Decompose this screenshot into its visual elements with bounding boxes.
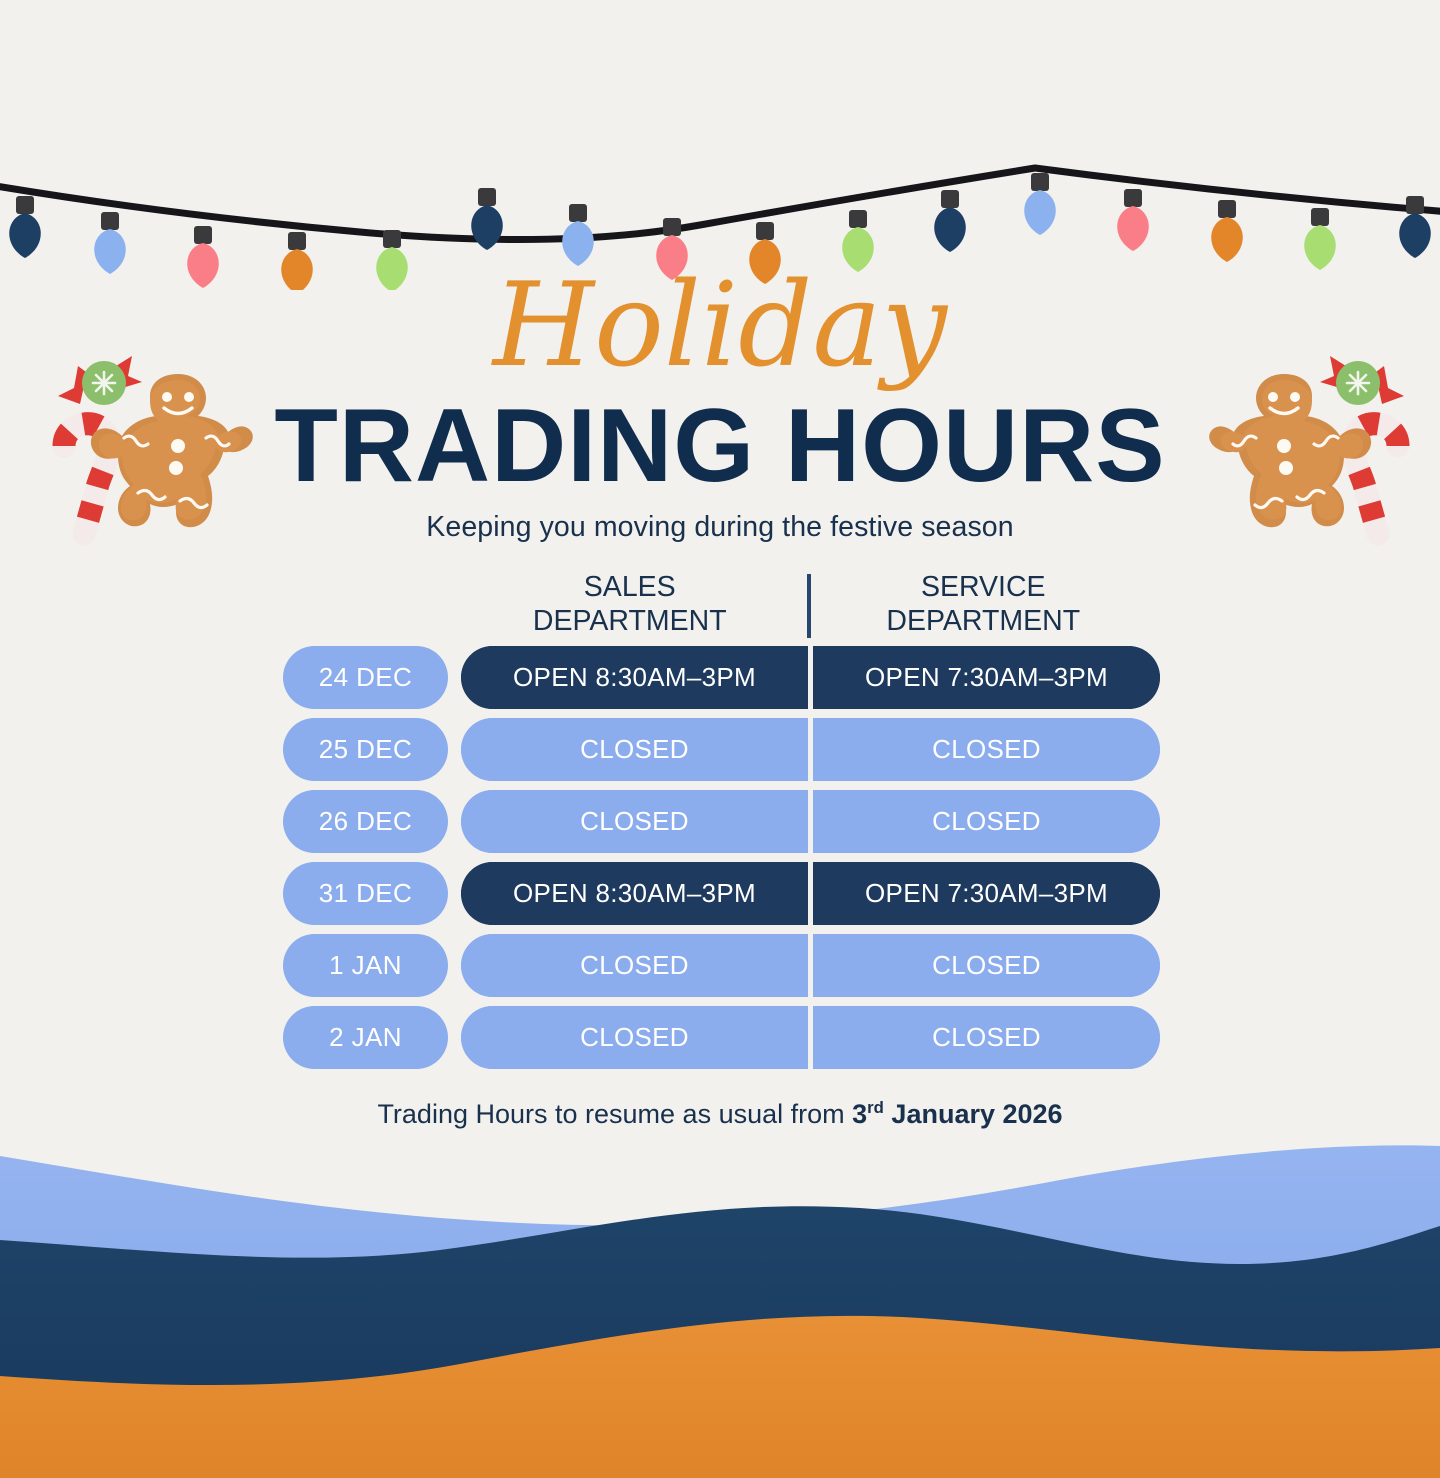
column-header-service-line2: DEPARTMENT [807,605,1161,639]
wave-decoration [0,1118,1440,1478]
cell-service: CLOSED [808,1006,1160,1069]
row-cells: CLOSED CLOSED [461,1006,1160,1069]
row-date-badge: 31 DEC [283,862,448,925]
cell-service: CLOSED [808,934,1160,997]
column-header-sales: SALES DEPARTMENT [453,568,807,638]
string-lights-icon [0,0,1440,290]
cell-service: CLOSED [808,790,1160,853]
row-cells: OPEN 8:30AM–3PM OPEN 7:30AM–3PM [461,646,1160,709]
cell-sales: CLOSED [461,790,808,853]
row-date-badge: 24 DEC [283,646,448,709]
row-cells: CLOSED CLOSED [461,790,1160,853]
column-header-sales-line1: SALES [453,571,807,605]
table-row: 1 JAN CLOSED CLOSED [283,934,1160,997]
table-row: 2 JAN CLOSED CLOSED [283,1006,1160,1069]
column-header-sales-line2: DEPARTMENT [453,605,807,639]
table-row: 24 DEC OPEN 8:30AM–3PM OPEN 7:30AM–3PM [283,646,1160,709]
row-date-badge: 1 JAN [283,934,448,997]
column-header-service-line1: SERVICE [807,571,1161,605]
cell-sales: OPEN 8:30AM–3PM [461,862,808,925]
cell-sales: CLOSED [461,1006,808,1069]
page-title: TRADING HOURS [0,394,1440,498]
row-date-badge: 26 DEC [283,790,448,853]
resume-note-ordinal: rd [867,1098,884,1117]
subtitle: Keeping you moving during the festive se… [0,511,1440,544]
trading-hours-table: SALES DEPARTMENT SERVICE DEPARTMENT 24 D… [283,568,1160,1078]
cell-service: OPEN 7:30AM–3PM [808,862,1160,925]
table-row: 26 DEC CLOSED CLOSED [283,790,1160,853]
cell-sales: CLOSED [461,718,808,781]
cell-service: CLOSED [808,718,1160,781]
row-cells: CLOSED CLOSED [461,934,1160,997]
table-header-row: SALES DEPARTMENT SERVICE DEPARTMENT [283,568,1160,646]
row-date-badge: 25 DEC [283,718,448,781]
row-date-badge: 2 JAN [283,1006,448,1069]
table-row: 31 DEC OPEN 8:30AM–3PM OPEN 7:30AM–3PM [283,862,1160,925]
header-divider [807,574,811,638]
cell-sales: OPEN 8:30AM–3PM [461,646,808,709]
column-header-service: SERVICE DEPARTMENT [807,568,1161,638]
row-cells: CLOSED CLOSED [461,718,1160,781]
cell-sales: CLOSED [461,934,808,997]
row-cells: OPEN 8:30AM–3PM OPEN 7:30AM–3PM [461,862,1160,925]
poster-canvas: Holiday TRADING HOURS Keeping you moving… [0,0,1440,1478]
cell-service: OPEN 7:30AM–3PM [808,646,1160,709]
table-row: 25 DEC CLOSED CLOSED [283,718,1160,781]
